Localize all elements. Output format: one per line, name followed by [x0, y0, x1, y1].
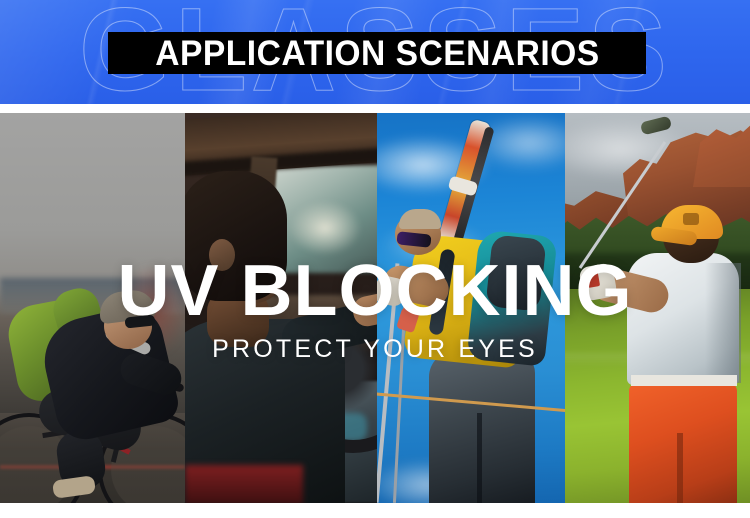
skier-hair	[399, 209, 441, 229]
golfer-trouser-seam	[677, 433, 683, 503]
scenario-panel-golf	[565, 113, 750, 503]
golfer-belt	[631, 375, 737, 386]
scenario-panel-cycling	[0, 113, 185, 503]
golfer-glove-logo	[586, 272, 600, 288]
driver-head	[185, 171, 287, 301]
golfer-polo-shadow	[705, 263, 741, 383]
windshield-glare	[289, 201, 361, 255]
header-band: GLASSES APPLICATION SCENARIOS	[0, 0, 750, 104]
promo-banner-page: GLASSES APPLICATION SCENARIOS	[0, 0, 750, 518]
backpack-dark-panel	[485, 234, 546, 311]
scenario-panel-skiing	[377, 113, 565, 503]
skier-trouser-seam	[477, 413, 482, 503]
title-banner: APPLICATION SCENARIOS	[108, 32, 646, 74]
skier-trousers	[429, 351, 535, 503]
cap-logo	[683, 213, 699, 225]
seat-red-accent	[185, 465, 303, 503]
page-title: APPLICATION SCENARIOS	[155, 36, 599, 71]
footer-whitespace	[0, 503, 750, 518]
golfer-orange-trousers	[629, 383, 737, 503]
scenario-panel-driving	[185, 113, 377, 503]
header-image-gap	[0, 104, 750, 113]
driver-ear	[209, 239, 235, 271]
scenario-image-strip	[0, 113, 750, 503]
